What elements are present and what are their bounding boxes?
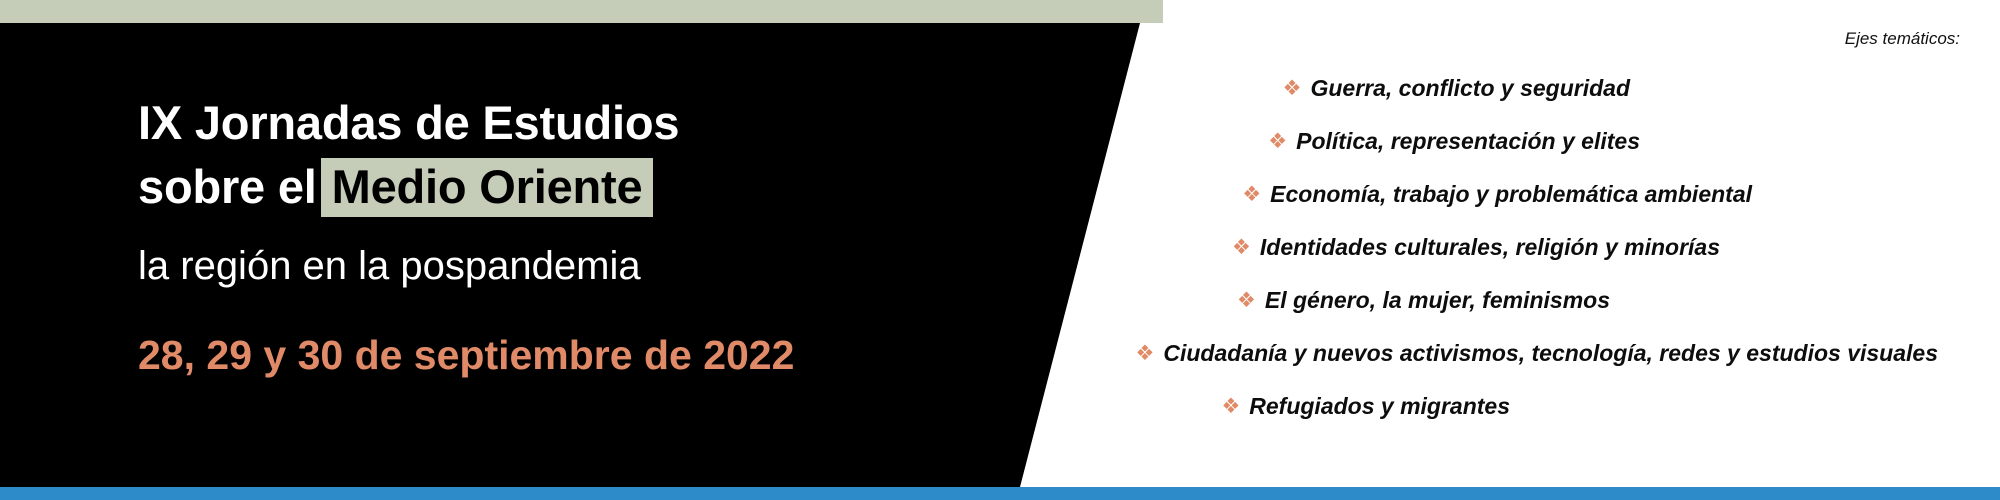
list-item-label: Guerra, conflicto y seguridad (1310, 75, 1630, 101)
banner-left-content: IX Jornadas de Estudios sobre elMedio Or… (138, 92, 998, 382)
banner-right-content: Ejes temáticos: ❖Guerra, conflicto y seg… (920, 28, 1970, 433)
thematic-axes-label: Ejes temáticos: (920, 28, 1960, 50)
list-item-label: Política, representación y elites (1296, 128, 1640, 154)
title-prefix: sobre el (138, 160, 317, 213)
list-item: ❖El género, la mujer, feminismos (920, 274, 1970, 327)
list-item: ❖Identidades culturales, religión y mino… (920, 221, 1970, 274)
thematic-axes-list: ❖Guerra, conflicto y seguridad ❖Política… (920, 62, 1970, 433)
list-item: ❖Política, representación y elites (920, 115, 1970, 168)
floret-icon: ❖ (1237, 275, 1256, 327)
bottom-accent-bar (0, 487, 2000, 500)
list-item: ❖Ciudadanía y nuevos activismos, tecnolo… (920, 327, 1970, 380)
floret-icon: ❖ (1242, 169, 1261, 221)
list-item: ❖Economía, trabajo y problemática ambien… (920, 168, 1970, 221)
floret-icon: ❖ (1283, 63, 1302, 115)
list-item: ❖Refugiados y migrantes (920, 380, 1970, 433)
list-item-label: Economía, trabajo y problemática ambient… (1270, 181, 1752, 207)
list-item-label: Refugiados y migrantes (1249, 393, 1510, 419)
list-item-label: Identidades culturales, religión y minor… (1260, 234, 1720, 260)
floret-icon: ❖ (1221, 381, 1240, 433)
floret-icon: ❖ (1232, 222, 1251, 274)
page-title-line-2: sobre elMedio Oriente (138, 156, 998, 218)
banner-subtitle: la región en la pospandemia (138, 240, 998, 292)
page-title-line-1: IX Jornadas de Estudios (138, 92, 998, 154)
list-item: ❖Guerra, conflicto y seguridad (920, 62, 1970, 115)
event-banner: IX Jornadas de Estudios sobre elMedio Or… (0, 0, 2000, 500)
top-accent-strip (0, 0, 1163, 23)
floret-icon: ❖ (1268, 116, 1287, 168)
floret-icon: ❖ (1136, 328, 1155, 380)
title-highlight: Medio Oriente (321, 158, 654, 217)
list-item-label: El género, la mujer, feminismos (1265, 287, 1610, 313)
event-date: 28, 29 y 30 de septiembre de 2022 (138, 328, 998, 382)
list-item-label: Ciudadanía y nuevos activismos, tecnolog… (1163, 340, 1938, 366)
